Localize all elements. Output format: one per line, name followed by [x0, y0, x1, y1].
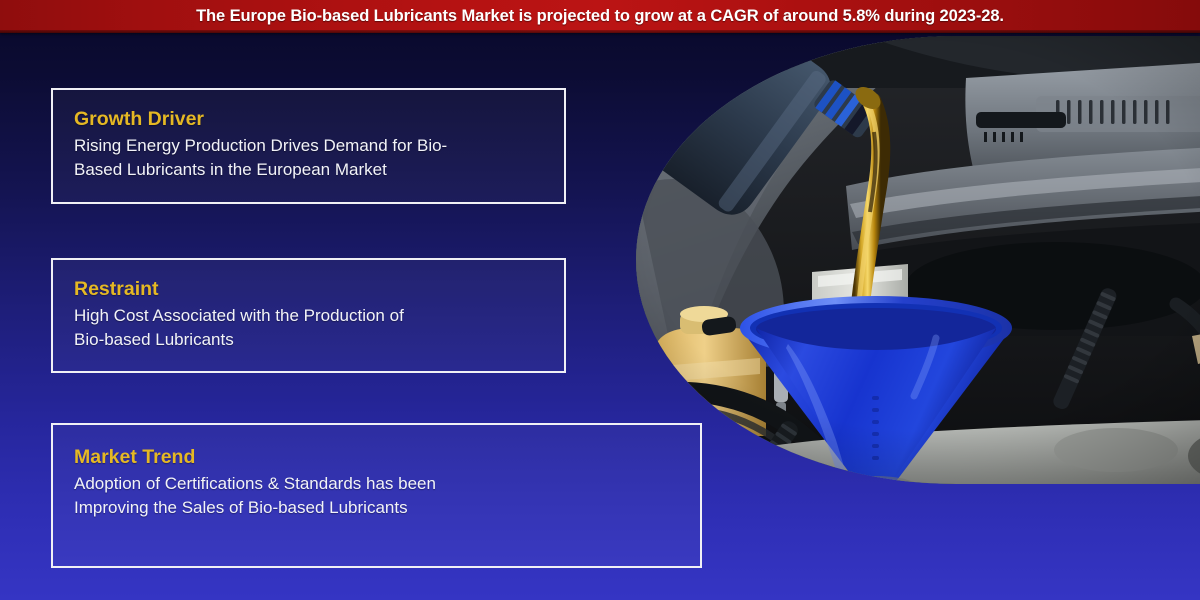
growth-driver-body: Rising Energy Production Drives Demand f…: [74, 134, 554, 181]
growth-driver-title: Growth Driver: [74, 109, 564, 129]
headline-text: The Europe Bio-based Lubricants Market i…: [196, 7, 1004, 26]
header-banner: The Europe Bio-based Lubricants Market i…: [0, 0, 1200, 33]
engine-bay-illustration: [636, 36, 1200, 484]
market-trend-line-2: Improving the Sales of Bio-based Lubrica…: [74, 496, 594, 519]
info-box-growth-driver: Growth Driver Rising Energy Production D…: [51, 88, 566, 204]
market-trend-line-1: Adoption of Certifications & Standards h…: [74, 472, 594, 495]
restraint-line-1: High Cost Associated with the Production…: [74, 304, 554, 327]
engine-oil-photo: [636, 36, 1200, 484]
growth-driver-line-2: Based Lubricants in the European Market: [74, 158, 554, 181]
restraint-title: Restraint: [74, 279, 564, 299]
info-box-content: Growth Driver Rising Energy Production D…: [53, 90, 564, 181]
market-trend-title: Market Trend: [74, 447, 700, 467]
info-box-market-trend: Market Trend Adoption of Certifications …: [51, 423, 702, 568]
market-trend-body: Adoption of Certifications & Standards h…: [74, 472, 594, 519]
info-box-content: Market Trend Adoption of Certifications …: [53, 425, 700, 519]
infographic-canvas: The Europe Bio-based Lubricants Market i…: [0, 0, 1200, 600]
photo-circle-mask: [636, 36, 1200, 484]
info-box-content: Restraint High Cost Associated with the …: [53, 260, 564, 351]
info-box-restraint: Restraint High Cost Associated with the …: [51, 258, 566, 373]
restraint-line-2: Bio-based Lubricants: [74, 328, 554, 351]
growth-driver-line-1: Rising Energy Production Drives Demand f…: [74, 134, 554, 157]
restraint-body: High Cost Associated with the Production…: [74, 304, 554, 351]
